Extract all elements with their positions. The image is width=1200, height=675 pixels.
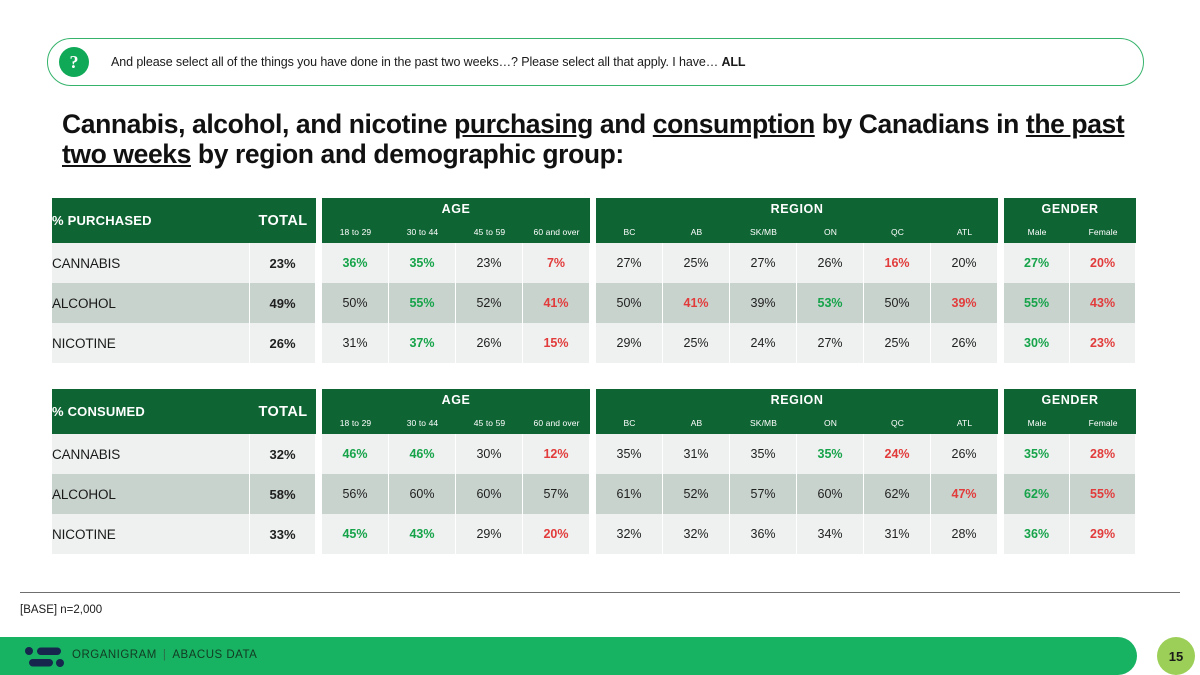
title-part-1: Cannabis, alcohol, and nicotine	[62, 109, 454, 139]
column-group-gender: GENDER	[1004, 389, 1136, 411]
cell-region-3: 34%	[797, 514, 864, 554]
subheader-age-0: 18 to 29	[322, 220, 389, 243]
cell-region-4: 24%	[864, 434, 931, 474]
subheader-region-4: QC	[864, 411, 931, 434]
cell-age-2: 26%	[456, 323, 523, 363]
cell-region-0: 29%	[596, 323, 663, 363]
subheader-age-2: 45 to 59	[456, 220, 523, 243]
cell-region-2: 57%	[730, 474, 797, 514]
cell-age-2: 60%	[456, 474, 523, 514]
column-group-total: TOTAL	[250, 389, 316, 434]
cell-region-4: 31%	[864, 514, 931, 554]
cell-region-4: 25%	[864, 323, 931, 363]
cell-gender-0: 30%	[1004, 323, 1070, 363]
cell-total: 23%	[250, 243, 316, 283]
cell-age-3: 57%	[523, 474, 590, 514]
subheader-gender-0: Male	[1004, 411, 1070, 434]
row-label-nicotine: NICOTINE	[52, 514, 250, 554]
title-part-3: by Canadians in	[815, 109, 1026, 139]
title-part-4: by region and demographic group:	[191, 139, 624, 169]
table-row: ALCOHOL49%50%55%52%41%50%41%39%53%50%39%…	[52, 283, 1136, 323]
cell-region-0: 32%	[596, 514, 663, 554]
cell-region-0: 61%	[596, 474, 663, 514]
footer-divider	[20, 592, 1180, 593]
subheader-gender-1: Female	[1070, 220, 1136, 243]
subheader-region-0: BC	[596, 411, 663, 434]
cell-gender-1: 43%	[1070, 283, 1136, 323]
brand-secondary: ABACUS DATA	[172, 649, 257, 661]
cell-age-1: 55%	[389, 283, 456, 323]
cell-region-1: 32%	[663, 514, 730, 554]
column-group-gender: GENDER	[1004, 198, 1136, 220]
cell-region-1: 25%	[663, 243, 730, 283]
cell-age-3: 7%	[523, 243, 590, 283]
question-text-bold: ALL	[721, 55, 745, 69]
brand-primary: ORGANIGRAM	[72, 649, 157, 661]
row-label-cannabis: CANNABIS	[52, 243, 250, 283]
cell-age-1: 46%	[389, 434, 456, 474]
table-row: NICOTINE26%31%37%26%15%29%25%24%27%25%26…	[52, 323, 1136, 363]
cell-region-4: 62%	[864, 474, 931, 514]
subheader-age-2: 45 to 59	[456, 411, 523, 434]
table-header: % CONSUMED TOTAL AGE REGION GENDER 18 to…	[52, 389, 1136, 434]
cell-region-1: 31%	[663, 434, 730, 474]
cell-region-1: 25%	[663, 323, 730, 363]
table-row: CANNABIS32%46%46%30%12%35%31%35%35%24%26…	[52, 434, 1136, 474]
cell-age-0: 50%	[322, 283, 389, 323]
cell-gender-1: 29%	[1070, 514, 1136, 554]
cell-total: 33%	[250, 514, 316, 554]
cell-gender-0: 27%	[1004, 243, 1070, 283]
page-title: Cannabis, alcohol, and nicotine purchasi…	[62, 110, 1142, 169]
cell-gender-1: 20%	[1070, 243, 1136, 283]
cell-gender-0: 36%	[1004, 514, 1070, 554]
footer-brand: ORGANIGRAM|ABACUS DATA	[72, 649, 257, 661]
cell-region-2: 39%	[730, 283, 797, 323]
brand-divider: |	[163, 649, 167, 661]
title-part-2: and	[593, 109, 653, 139]
cell-age-1: 35%	[389, 243, 456, 283]
cell-region-0: 35%	[596, 434, 663, 474]
column-group-age: AGE	[322, 389, 590, 411]
subheader-region-3: ON	[797, 411, 864, 434]
header-row-groups: % PURCHASED TOTAL AGE REGION GENDER	[52, 198, 1136, 220]
cell-gender-0: 62%	[1004, 474, 1070, 514]
table-body: CANNABIS23%36%35%23%7%27%25%27%26%16%20%…	[52, 243, 1136, 363]
cell-gender-1: 55%	[1070, 474, 1136, 514]
cell-region-2: 35%	[730, 434, 797, 474]
subheader-region-4: QC	[864, 220, 931, 243]
cell-region-3: 26%	[797, 243, 864, 283]
subheader-age-3: 60 and over	[523, 220, 590, 243]
cell-region-2: 36%	[730, 514, 797, 554]
cell-age-3: 41%	[523, 283, 590, 323]
cell-age-2: 30%	[456, 434, 523, 474]
cell-total: 49%	[250, 283, 316, 323]
cell-gender-0: 35%	[1004, 434, 1070, 474]
cell-region-3: 27%	[797, 323, 864, 363]
organigram-logo-icon	[24, 646, 66, 668]
cell-region-5: 47%	[931, 474, 998, 514]
cell-region-5: 26%	[931, 323, 998, 363]
cell-gender-1: 23%	[1070, 323, 1136, 363]
subheader-gender-0: Male	[1004, 220, 1070, 243]
cell-total: 26%	[250, 323, 316, 363]
title-underline-purchasing: purchasing	[454, 109, 593, 139]
column-group-region: REGION	[596, 389, 998, 411]
cell-region-3: 53%	[797, 283, 864, 323]
cell-age-0: 56%	[322, 474, 389, 514]
cell-age-1: 43%	[389, 514, 456, 554]
title-underline-consumption: consumption	[653, 109, 815, 139]
question-text-plain: And please select all of the things you …	[111, 55, 721, 69]
header-row-groups: % CONSUMED TOTAL AGE REGION GENDER	[52, 389, 1136, 411]
cell-gender-1: 28%	[1070, 434, 1136, 474]
subheader-region-0: BC	[596, 220, 663, 243]
question-banner-text: And please select all of the things you …	[111, 55, 745, 69]
corner-label-purchased: % PURCHASED	[52, 198, 250, 243]
column-group-region: REGION	[596, 198, 998, 220]
row-label-nicotine: NICOTINE	[52, 323, 250, 363]
cell-region-2: 24%	[730, 323, 797, 363]
cell-total: 32%	[250, 434, 316, 474]
table-consumed: % CONSUMED TOTAL AGE REGION GENDER 18 to…	[52, 389, 1119, 554]
row-label-alcohol: ALCOHOL	[52, 474, 250, 514]
subheader-region-5: ATL	[931, 220, 998, 243]
cell-region-5: 26%	[931, 434, 998, 474]
subheader-age-0: 18 to 29	[322, 411, 389, 434]
data-table: % PURCHASED TOTAL AGE REGION GENDER 18 t…	[52, 198, 1136, 363]
row-label-alcohol: ALCOHOL	[52, 283, 250, 323]
cell-region-3: 35%	[797, 434, 864, 474]
subheader-region-1: AB	[663, 220, 730, 243]
cell-total: 58%	[250, 474, 316, 514]
cell-region-0: 50%	[596, 283, 663, 323]
table-body: CANNABIS32%46%46%30%12%35%31%35%35%24%26…	[52, 434, 1136, 554]
corner-label-consumed: % CONSUMED	[52, 389, 250, 434]
cell-age-0: 46%	[322, 434, 389, 474]
table-purchased: % PURCHASED TOTAL AGE REGION GENDER 18 t…	[52, 198, 1119, 363]
subheader-region-5: ATL	[931, 411, 998, 434]
question-mark-glyph: ?	[70, 53, 79, 71]
cell-age-3: 12%	[523, 434, 590, 474]
cell-region-5: 20%	[931, 243, 998, 283]
cell-region-1: 52%	[663, 474, 730, 514]
page-number-badge: 15	[1157, 637, 1195, 675]
table-row: ALCOHOL58%56%60%60%57%61%52%57%60%62%47%…	[52, 474, 1136, 514]
subheader-region-1: AB	[663, 411, 730, 434]
cell-age-3: 15%	[523, 323, 590, 363]
subheader-region-3: ON	[797, 220, 864, 243]
question-banner: ? And please select all of the things yo…	[47, 38, 1144, 86]
column-group-total: TOTAL	[250, 198, 316, 243]
cell-age-2: 52%	[456, 283, 523, 323]
cell-age-0: 31%	[322, 323, 389, 363]
cell-age-1: 60%	[389, 474, 456, 514]
subheader-age-3: 60 and over	[523, 411, 590, 434]
subheader-region-2: SK/MB	[730, 411, 797, 434]
cell-region-1: 41%	[663, 283, 730, 323]
cell-region-5: 39%	[931, 283, 998, 323]
table-row: NICOTINE33%45%43%29%20%32%32%36%34%31%28…	[52, 514, 1136, 554]
subheader-gender-1: Female	[1070, 411, 1136, 434]
table-header: % PURCHASED TOTAL AGE REGION GENDER 18 t…	[52, 198, 1136, 243]
data-table: % CONSUMED TOTAL AGE REGION GENDER 18 to…	[52, 389, 1136, 554]
cell-region-5: 28%	[931, 514, 998, 554]
question-mark-circle-icon: ?	[59, 47, 89, 77]
cell-age-1: 37%	[389, 323, 456, 363]
base-note: [BASE] n=2,000	[20, 604, 102, 616]
cell-age-3: 20%	[523, 514, 590, 554]
cell-age-0: 45%	[322, 514, 389, 554]
cell-gender-0: 55%	[1004, 283, 1070, 323]
cell-region-0: 27%	[596, 243, 663, 283]
cell-region-4: 16%	[864, 243, 931, 283]
row-label-cannabis: CANNABIS	[52, 434, 250, 474]
cell-region-2: 27%	[730, 243, 797, 283]
cell-age-2: 29%	[456, 514, 523, 554]
cell-region-4: 50%	[864, 283, 931, 323]
subheader-age-1: 30 to 44	[389, 220, 456, 243]
subheader-region-2: SK/MB	[730, 220, 797, 243]
cell-age-0: 36%	[322, 243, 389, 283]
column-group-age: AGE	[322, 198, 590, 220]
subheader-age-1: 30 to 44	[389, 411, 456, 434]
cell-region-3: 60%	[797, 474, 864, 514]
cell-age-2: 23%	[456, 243, 523, 283]
table-row: CANNABIS23%36%35%23%7%27%25%27%26%16%20%…	[52, 243, 1136, 283]
